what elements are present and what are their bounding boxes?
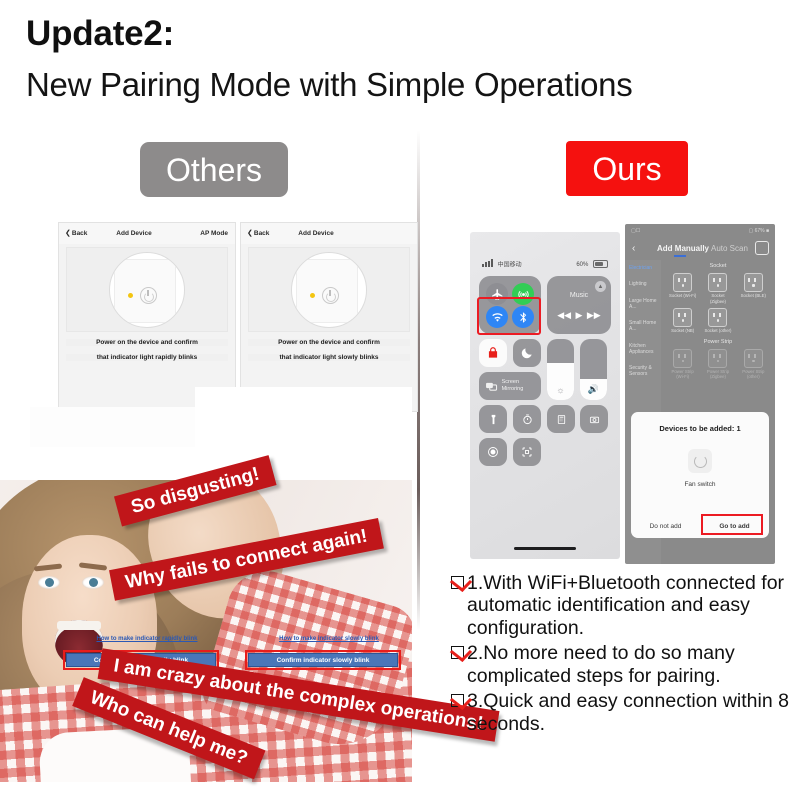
device-label: Socket (Zigbee)	[703, 293, 733, 304]
magnifier-circle-icon	[109, 252, 185, 328]
page-subtitle: New Pairing Mode with Simple Operations	[26, 66, 632, 104]
others-app-screen-a: ❮ Back Add Device AP Mode Power on the d…	[58, 222, 236, 412]
led-indicator-icon	[128, 293, 133, 298]
timer-button[interactable]	[513, 405, 541, 433]
benefit-item-1: 1.With WiFi+Bluetooth connected for auto…	[451, 572, 797, 639]
help-link-slow[interactable]: How to make indicator slowly blink	[240, 636, 418, 642]
power-strip-row-1: Power Strip (Wi-Fi) Power Strip (Zigbee)…	[661, 347, 775, 382]
screen-mirroring-label: Screen Mirroring	[502, 379, 541, 392]
led-indicator-icon	[310, 293, 315, 298]
app-b-navbar: ❮ Back Add Device	[241, 223, 417, 244]
screen-record-icon	[487, 446, 499, 458]
checkbox-checked-icon	[451, 694, 464, 707]
sidebar-item-electrician[interactable]: Electrician	[625, 260, 661, 276]
device-tile-power-strip-other[interactable]: Power Strip (other)	[738, 349, 768, 380]
photo-teeth	[57, 621, 101, 630]
do-not-add-button[interactable]: Do not add	[631, 523, 700, 530]
benefit-text: 1.With WiFi+Bluetooth connected for auto…	[467, 572, 797, 639]
go-to-add-highlight	[701, 514, 763, 535]
benefit-text: 2.No more need to do so many complicated…	[467, 642, 797, 687]
socket-icon	[673, 308, 692, 327]
music-controls: ◀◀ ▶ ▶▶	[547, 310, 611, 321]
screen-record-button[interactable]	[479, 438, 507, 466]
app-a-caption-line1: Power on the device and confirm	[66, 339, 228, 346]
rotation-lock-icon	[486, 346, 500, 360]
devices-to-add-dialog: Devices to be added: 1 Fan switch Do not…	[631, 412, 769, 538]
device-label: Socket (Wi-Fi)	[668, 293, 698, 299]
power-button-icon	[322, 287, 339, 304]
benefits-checklist: 1.With WiFi+Bluetooth connected for auto…	[451, 572, 797, 738]
app-b-caption-line1: Power on the device and confirm	[248, 339, 410, 346]
do-not-disturb-toggle[interactable]	[513, 339, 541, 367]
volume-icon: 🔊	[580, 384, 607, 395]
device-label: Socket (BLE)	[738, 293, 768, 299]
device-label: Power Strip (other)	[738, 369, 768, 380]
flashlight-icon	[488, 414, 499, 425]
wifi-bluetooth-highlight	[477, 297, 541, 335]
sidebar-item-kitchen-appliances[interactable]: Kitchen Appliances	[625, 338, 661, 361]
others-badge: Others	[140, 142, 288, 197]
socket-row-1: Socket (Wi-Fi) Socket (Zigbee) Socket (B…	[661, 271, 775, 306]
benefit-item-3: 3.Quick and easy connection within 8 sec…	[451, 690, 797, 735]
checkbox-checked-icon	[451, 576, 464, 589]
status-left-icons: ▢☐	[631, 228, 640, 237]
battery-icon	[593, 260, 608, 269]
discovered-device-name: Fan switch	[631, 481, 769, 488]
music-label: Music	[547, 292, 611, 299]
section-title-power-strip: Power Strip	[661, 336, 775, 347]
checkbox-checked-icon	[451, 646, 464, 659]
status-right-icons: ▢ 67% ■	[748, 228, 769, 237]
next-track-icon[interactable]: ▶▶	[587, 310, 601, 321]
panel-white-strip-2	[195, 387, 412, 447]
others-app-screen-b: ❮ Back Add Device Power on the device an…	[240, 222, 418, 412]
sidebar-item-security-sensors[interactable]: Security & Sensors	[625, 360, 661, 383]
page-title: Update2:	[26, 14, 174, 54]
camera-icon	[589, 414, 600, 425]
device-tile-power-strip-wifi[interactable]: Power Strip (Wi-Fi)	[668, 349, 698, 380]
ours-panel: 中国移动 60%	[445, 222, 800, 782]
section-title-socket: Socket	[661, 260, 775, 271]
active-tab-underline	[674, 255, 686, 257]
status-right: 60%	[576, 260, 608, 269]
screen-mirroring-icon	[485, 380, 498, 393]
tab-add-manually[interactable]: Add Manually	[657, 244, 709, 253]
app-a-navbar: ❮ Back Add Device AP Mode	[59, 223, 235, 244]
sidebar-item-small-home-appliances[interactable]: Small Home A...	[625, 315, 661, 338]
device-label: Power Strip (Wi-Fi)	[668, 369, 698, 380]
power-strip-icon	[708, 349, 727, 368]
home-indicator	[514, 547, 576, 550]
device-tile-socket-zigbee[interactable]: Socket (Zigbee)	[703, 273, 733, 304]
socket-icon	[744, 273, 763, 292]
screen-mirroring-button[interactable]: Screen Mirroring	[479, 372, 541, 400]
battery-percent-label: 60%	[576, 262, 588, 268]
socket-icon	[708, 308, 727, 327]
device-tile-socket-nb[interactable]: Socket (NB)	[668, 308, 698, 334]
benefit-text: 3.Quick and easy connection within 8 sec…	[467, 690, 797, 735]
device-tile-socket-wifi[interactable]: Socket (Wi-Fi)	[668, 273, 698, 304]
socket-icon	[708, 273, 727, 292]
tuya-add-device-screenshot: ▢☐ ▢ 67% ■ ‹ Add Manually Auto Scan Elec…	[625, 224, 775, 564]
connectivity-module	[479, 276, 541, 334]
device-label: Socket (other)	[703, 328, 733, 334]
airplay-icon[interactable]: ▲	[595, 281, 606, 292]
device-tile-socket-ble[interactable]: Socket (BLE)	[738, 273, 768, 304]
confirm-slow-blink-button[interactable]: Confirm indicator slowly blink	[248, 653, 398, 667]
app-a-device-illustration	[66, 247, 228, 332]
socket-icon	[673, 273, 692, 292]
photo-iris-left	[45, 578, 54, 587]
sidebar-item-large-home-appliances[interactable]: Large Home A...	[625, 293, 661, 316]
device-tile-power-strip-zigbee[interactable]: Power Strip (Zigbee)	[703, 349, 733, 380]
magnifier-circle-icon	[291, 252, 367, 328]
app-b-device-illustration	[248, 247, 410, 332]
calculator-icon	[556, 414, 567, 425]
device-label: Socket (NB)	[668, 328, 698, 334]
play-icon[interactable]: ▶	[576, 310, 583, 321]
status-left: 中国移动	[482, 259, 522, 269]
flashlight-button[interactable]	[479, 405, 507, 433]
timer-icon	[522, 414, 533, 425]
sidebar-item-lighting[interactable]: Lighting	[625, 276, 661, 292]
promo-page: Update2: New Pairing Mode with Simple Op…	[0, 0, 800, 800]
benefit-item-2: 2.No more need to do so many complicated…	[451, 642, 797, 687]
carrier-label: 中国移动	[498, 263, 522, 269]
app-a-caption-line2: that indicator light rapidly blinks	[66, 354, 228, 361]
brightness-icon: ☼	[547, 385, 574, 395]
socket-row-2: Socket (NB) Socket (other)	[661, 306, 775, 336]
rotation-lock-toggle[interactable]	[479, 339, 507, 367]
calculator-button[interactable]	[547, 405, 575, 433]
power-button-icon	[140, 287, 157, 304]
power-strip-icon	[673, 349, 692, 368]
tuya-navbar: ‹ Add Manually Auto Scan	[625, 239, 775, 257]
dialog-title: Devices to be added: 1	[631, 412, 769, 433]
camera-button[interactable]	[580, 405, 608, 433]
tab-auto-scan[interactable]: Auto Scan	[711, 244, 748, 253]
app-b-title: Add Device	[215, 230, 417, 237]
confirm-slow-highlight: Confirm indicator slowly blink	[245, 650, 401, 670]
help-link-rapid[interactable]: How to make indicator rapidly blink	[58, 636, 236, 642]
ios-control-center-screenshot: 中国移动 60%	[470, 232, 620, 559]
signal-bars-icon	[482, 259, 493, 267]
power-strip-icon	[744, 349, 763, 368]
app-b-caption-line2: that indicator light slowly blinks	[248, 354, 410, 361]
previous-track-icon[interactable]: ◀◀	[557, 310, 571, 321]
device-label: Power Strip (Zigbee)	[703, 369, 733, 380]
qr-scanner-button[interactable]	[513, 438, 541, 466]
ours-badge: Ours	[566, 141, 688, 196]
device-tile-socket-other[interactable]: Socket (other)	[703, 308, 733, 334]
qr-code-icon	[521, 446, 533, 458]
music-module[interactable]: ▲ Music ◀◀ ▶ ▶▶	[547, 276, 611, 334]
photo-iris-right	[89, 578, 98, 587]
ios-status-bar: 中国移动 60%	[470, 258, 620, 270]
android-status-bar: ▢☐ ▢ 67% ■	[625, 228, 775, 237]
scan-qr-icon[interactable]	[755, 241, 769, 255]
discovered-device-icon	[688, 449, 712, 473]
volume-slider[interactable]: 🔊	[580, 339, 607, 400]
back-chevron-icon[interactable]: ‹	[632, 243, 635, 254]
brightness-slider[interactable]: ☼	[547, 339, 574, 400]
moon-icon	[520, 346, 534, 360]
